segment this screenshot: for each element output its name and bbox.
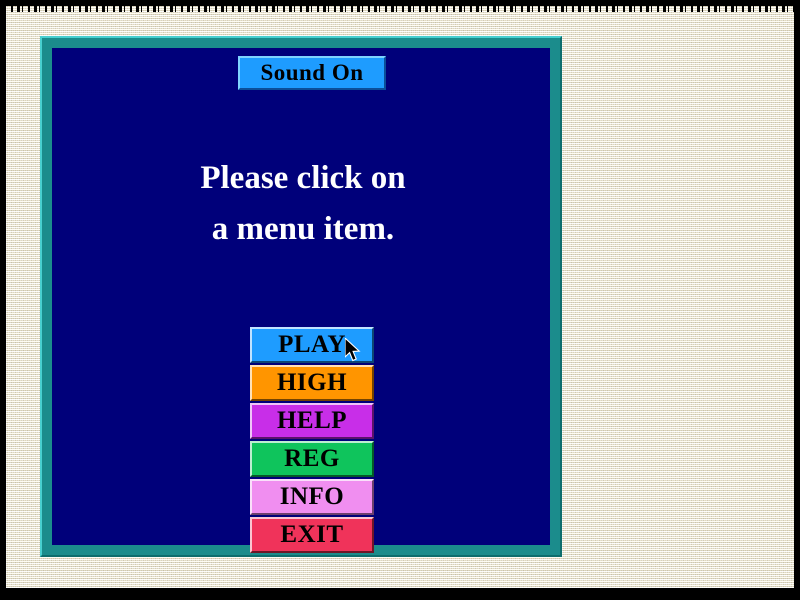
sound-toggle-button[interactable]: Sound On bbox=[238, 56, 386, 90]
game-panel: Sound On Please click on a menu item. PL… bbox=[52, 48, 550, 545]
menu-item-exit[interactable]: EXIT bbox=[250, 517, 374, 553]
prompt-line-1: Please click on bbox=[52, 153, 554, 204]
prompt-message: Please click on a menu item. bbox=[52, 153, 554, 255]
main-menu: PLAY HIGH HELP REG INFO EXIT bbox=[250, 327, 374, 555]
menu-item-info[interactable]: INFO bbox=[250, 479, 374, 515]
game-screen: Sound On Please click on a menu item. PL… bbox=[0, 0, 800, 600]
menu-item-reg[interactable]: REG bbox=[250, 441, 374, 477]
backdrop-bottom-edge bbox=[0, 588, 800, 595]
prompt-line-2: a menu item. bbox=[52, 204, 554, 255]
menu-item-help[interactable]: HELP bbox=[250, 403, 374, 439]
backdrop-top-edge bbox=[0, 5, 800, 12]
menu-item-high[interactable]: HIGH bbox=[250, 365, 374, 401]
menu-item-play[interactable]: PLAY bbox=[250, 327, 374, 363]
game-panel-frame: Sound On Please click on a menu item. PL… bbox=[40, 36, 562, 557]
